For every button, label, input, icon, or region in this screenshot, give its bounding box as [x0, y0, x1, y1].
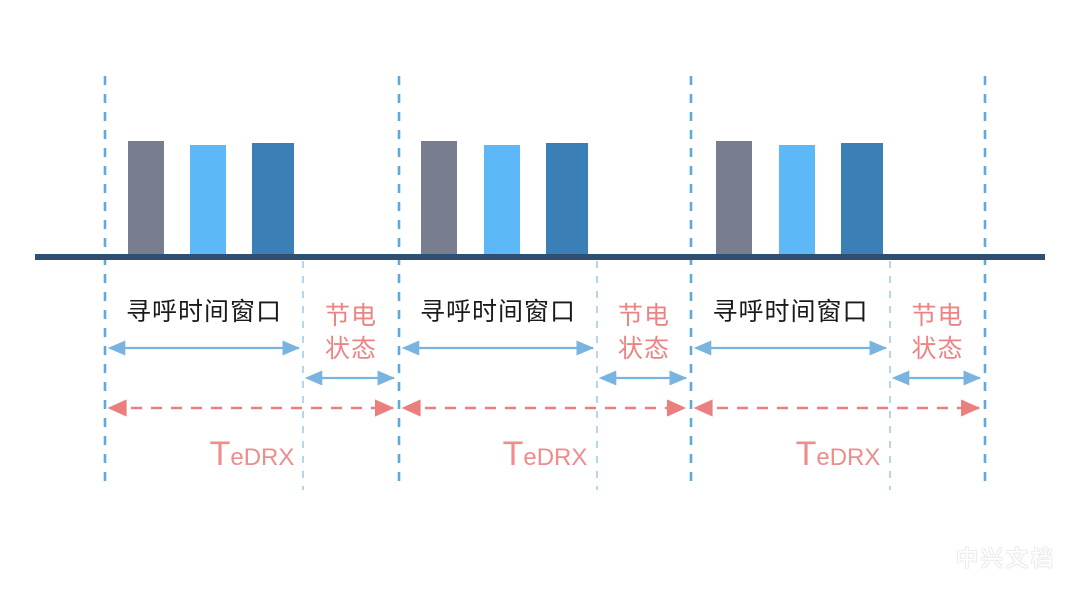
paging-bar-c1-1 [128, 141, 164, 254]
paging-bar-c2-2 [484, 145, 520, 254]
paging-bar-c2-3 [546, 143, 588, 254]
paging-bar-c3-3 [841, 143, 883, 254]
edrx-cycle-label-suffix: eDRX [230, 444, 294, 471]
paging-time-window-label-1: 寻呼时间窗口 [105, 292, 303, 328]
power-save-state-label-line2: 状态 [597, 333, 691, 366]
power-save-state-label-line1: 节电 [597, 300, 691, 333]
power-save-state-label-3: 节电状态 [890, 300, 985, 366]
edrx-cycle-label-prefix: T [210, 435, 231, 473]
paging-bar-c3-1 [716, 141, 752, 254]
paging-bar-c1-2 [190, 145, 226, 254]
power-save-state-label-line2: 状态 [303, 333, 399, 366]
measure-arrows [111, 348, 980, 408]
power-save-state-label-line1: 节电 [303, 300, 399, 333]
paging-time-window-label-3: 寻呼时间窗口 [691, 292, 890, 328]
paging-occasion-bars [128, 141, 883, 254]
edrx-cycle-label-2: TeDRX [399, 435, 691, 474]
power-save-state-label-line2: 状态 [890, 333, 985, 366]
watermark: 中兴文档 [956, 541, 1056, 573]
edrx-cycle-label-prefix: T [503, 435, 524, 473]
paging-bar-c1-3 [252, 143, 294, 254]
cycle-boundary-lines [105, 76, 985, 490]
edrx-cycle-label-3: TeDRX [691, 435, 985, 474]
power-save-state-label-line1: 节电 [890, 300, 985, 333]
edrx-cycle-label-suffix: eDRX [523, 444, 587, 471]
diagram-canvas: 寻呼时间窗口节电状态TeDRX寻呼时间窗口节电状态TeDRX寻呼时间窗口节电状态… [0, 0, 1080, 607]
power-save-state-label-1: 节电状态 [303, 300, 399, 366]
paging-bar-c2-1 [421, 141, 457, 254]
paging-time-window-label-2: 寻呼时间窗口 [399, 292, 597, 328]
edrx-cycle-label-suffix: eDRX [816, 444, 880, 471]
edrx-cycle-label-prefix: T [796, 435, 817, 473]
paging-bar-c3-2 [779, 145, 815, 254]
edrx-cycle-label-1: TeDRX [105, 435, 399, 474]
power-save-state-label-2: 节电状态 [597, 300, 691, 366]
